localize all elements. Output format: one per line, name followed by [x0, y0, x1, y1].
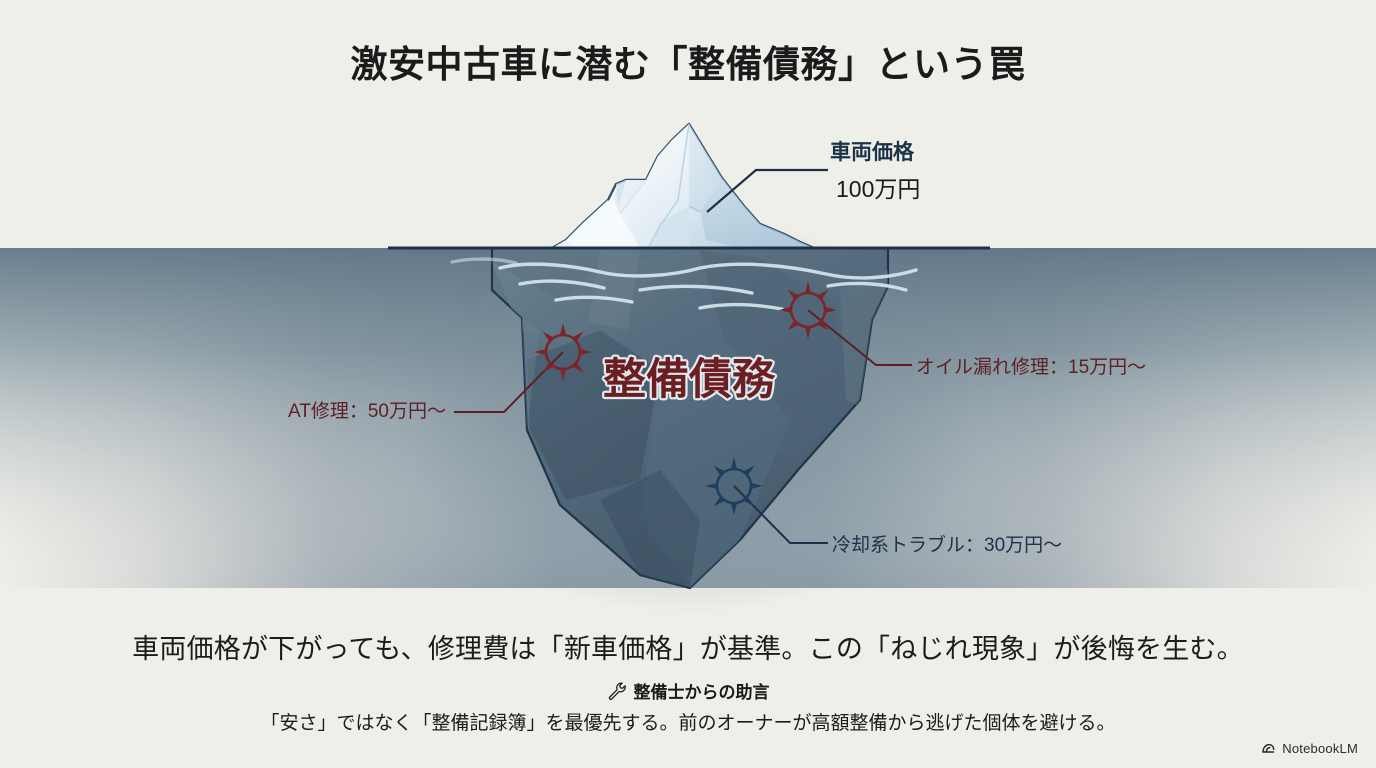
advice-heading: 整備士からの助言 — [0, 678, 1376, 703]
iceberg-peak — [552, 124, 814, 248]
slide-canvas: 激安中古車に潜む「整備債務」という罠 — [0, 0, 1376, 768]
watermark: NotebookLM — [1261, 740, 1358, 756]
iceberg-diagram: 整備債務 — [0, 0, 1376, 620]
center-label: 整備債務 — [603, 356, 776, 404]
notebooklm-logo-icon — [1261, 740, 1277, 756]
summary-caption: 車両価格が下がっても、修理費は「新車価格」が基準。この「ねじれ現象」が後悔を生む… — [0, 627, 1376, 666]
label-cooling-trouble: 冷却系トラブル：30万円〜 — [832, 530, 1062, 557]
label-vehicle-price-title: 車両価格 — [830, 136, 914, 166]
wrench-icon — [607, 681, 627, 701]
watermark-label: NotebookLM — [1282, 741, 1358, 756]
label-oil-leak-repair: オイル漏れ修理：15万円〜 — [916, 352, 1146, 379]
advice-heading-text: 整備士からの助言 — [634, 678, 770, 703]
label-vehicle-price-value: 100万円 — [836, 170, 920, 204]
label-at-repair: AT修理：50万円〜 — [288, 396, 446, 423]
advice-body: 「安さ」ではなく「整備記録簿」を最優先する。前のオーナーが高額整備から逃げた個体… — [0, 708, 1376, 735]
